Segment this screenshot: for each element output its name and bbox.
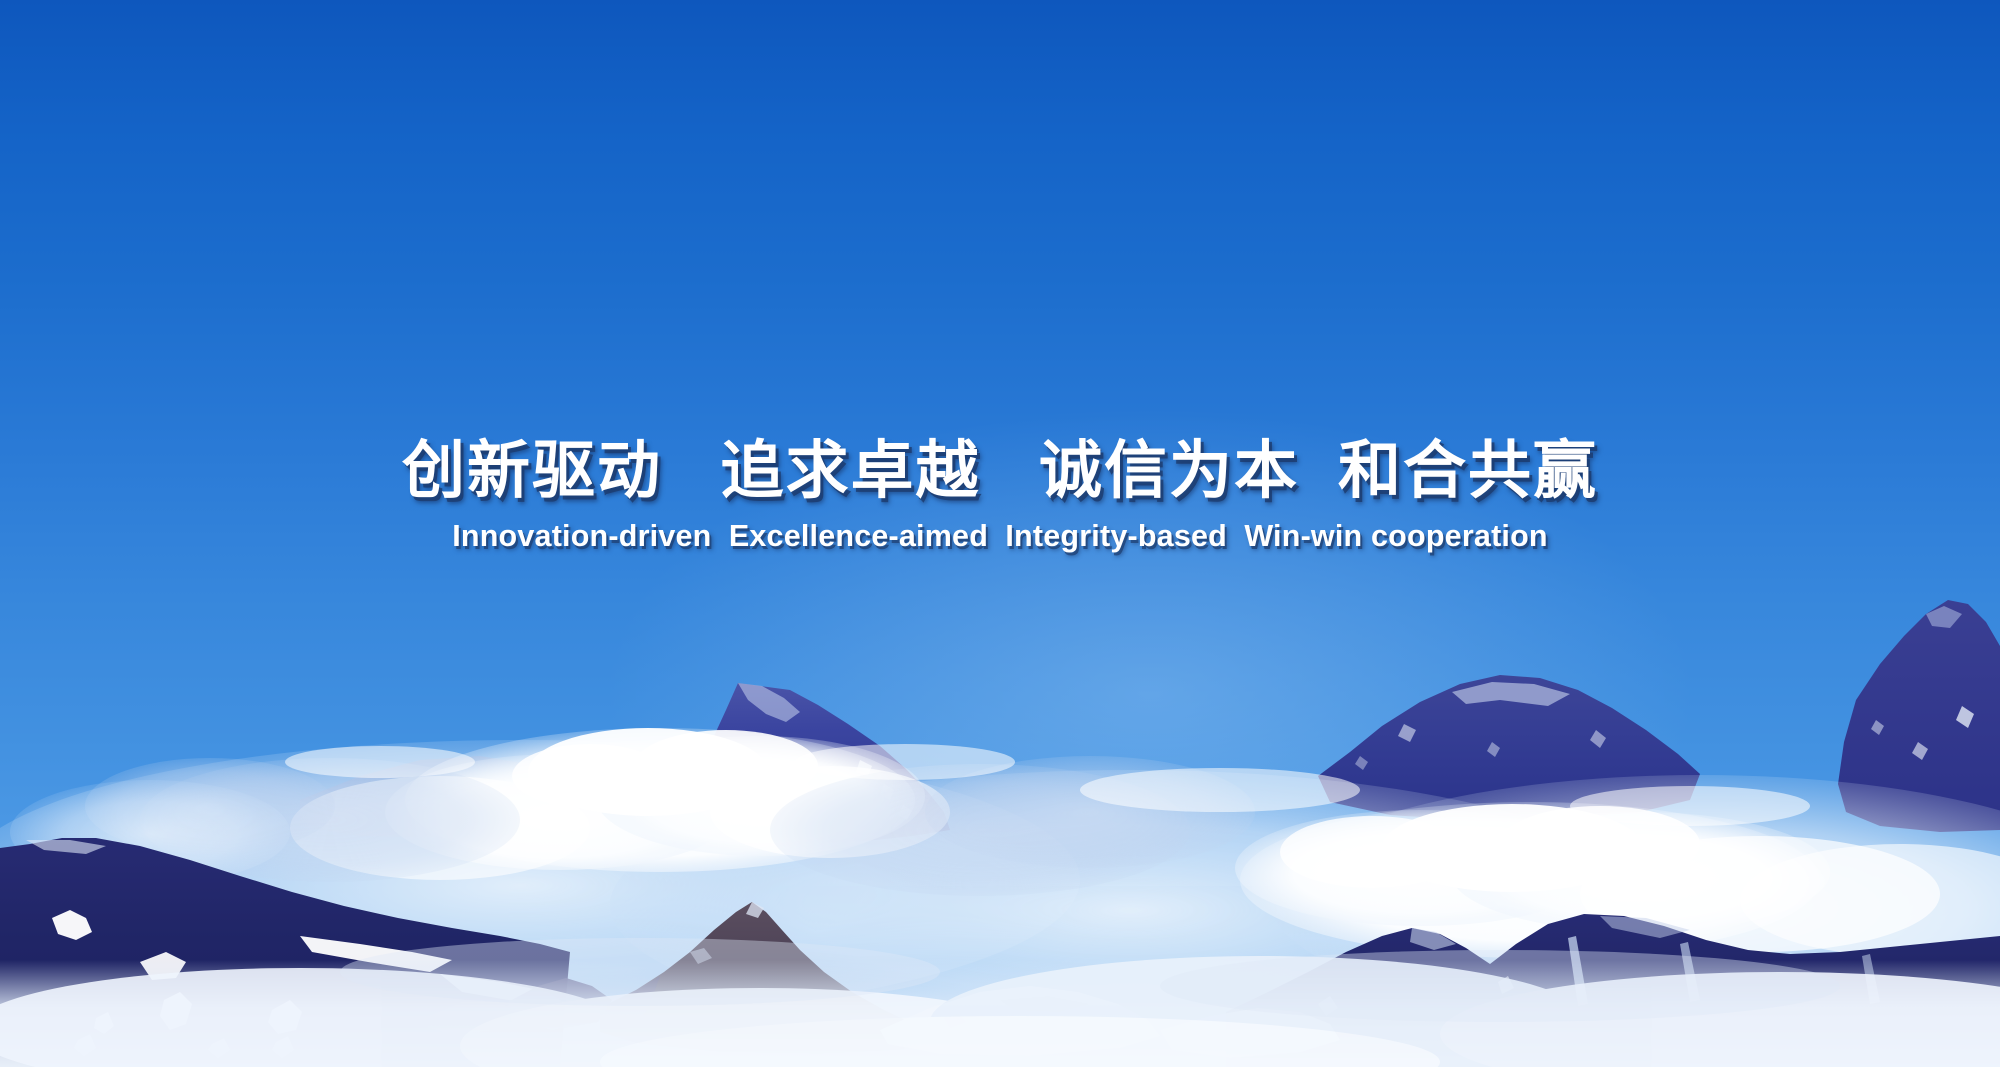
- hero-banner: 创新驱动 追求卓越 诚信为本 和合共赢 Innovation-driven Ex…: [0, 0, 2000, 1067]
- bottom-mist-layer: [0, 0, 2000, 1067]
